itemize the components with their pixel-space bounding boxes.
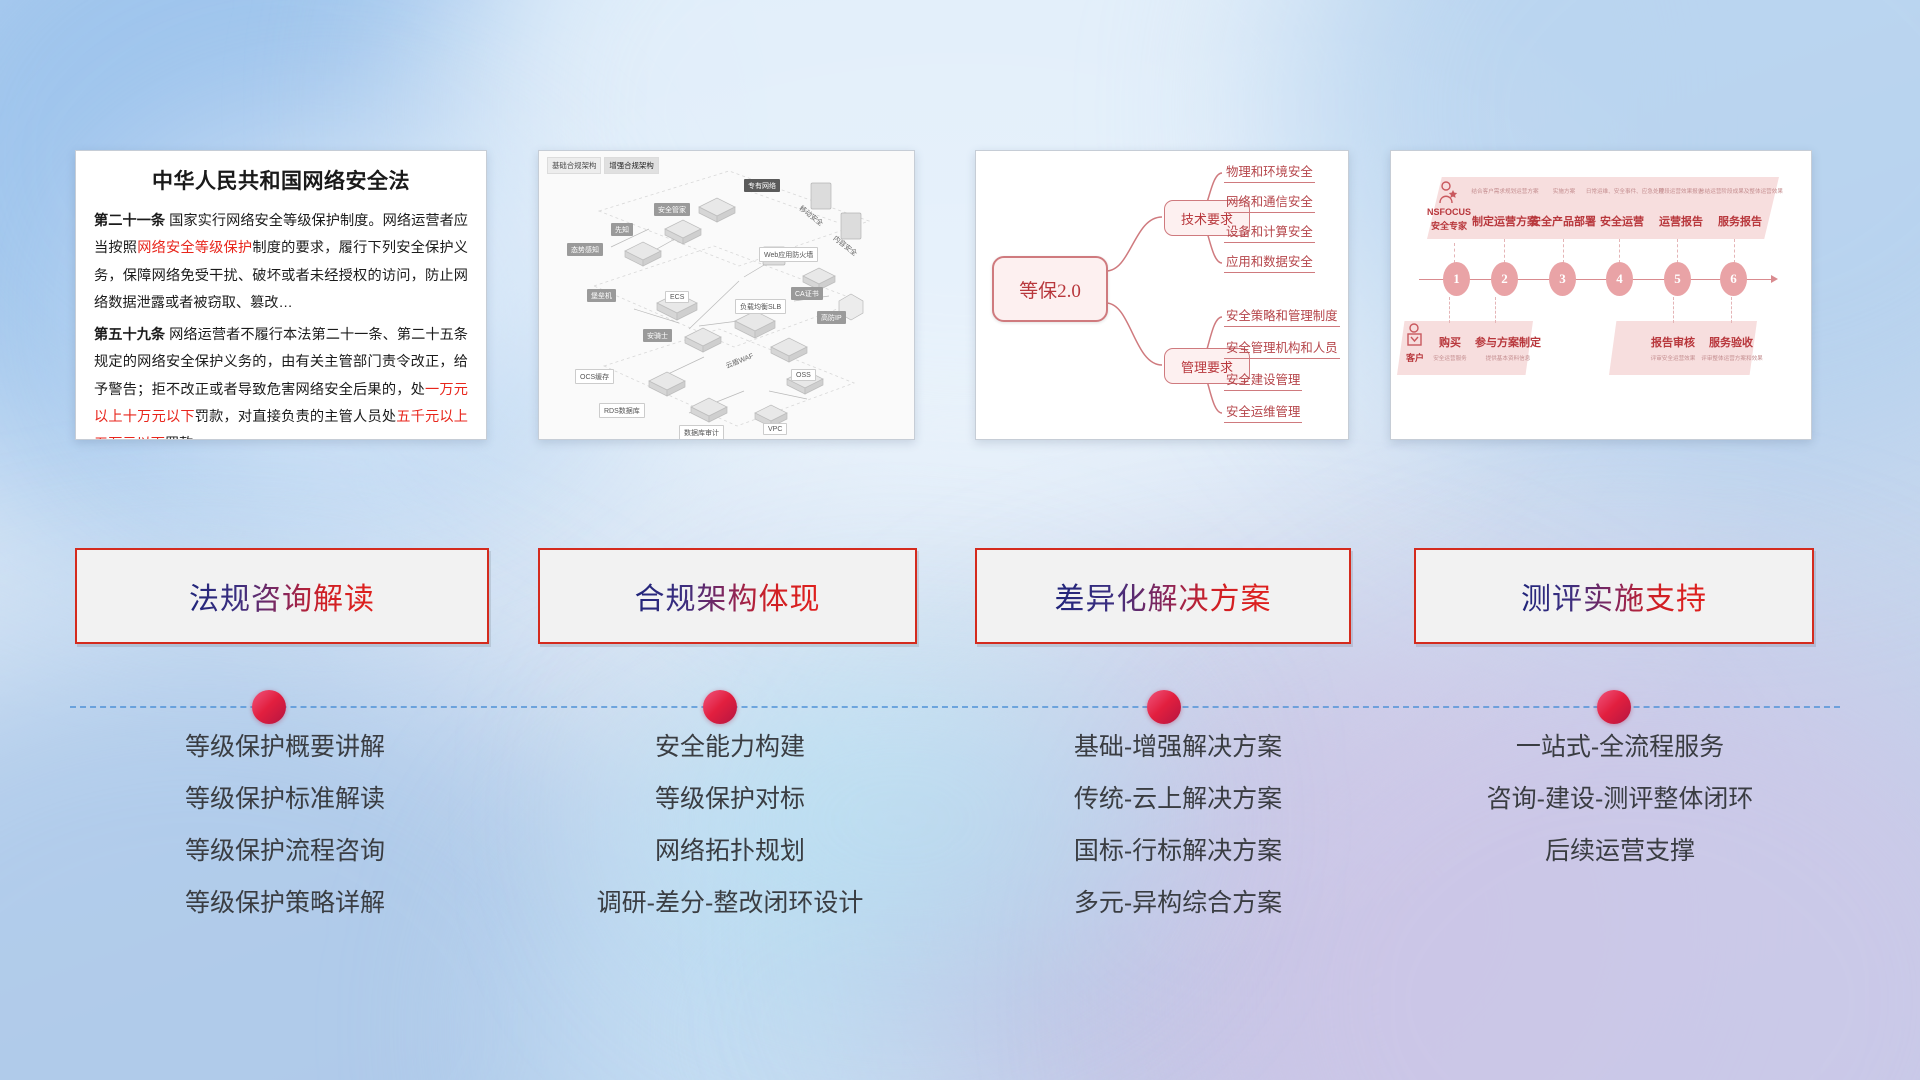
list-item: 一站式-全流程服务 xyxy=(1410,735,1830,760)
law-article-label: 第二十一条 xyxy=(94,213,165,229)
arch-node-label: 安骑士 xyxy=(643,329,672,342)
detail-column-row: 等级保护概要讲解 等级保护标准解读 等级保护流程咨询 等级保护策略详解 安全能力… xyxy=(0,735,1920,975)
mindmap-leaf[interactable]: 安全运维管理 xyxy=(1224,402,1302,423)
timeline-connector xyxy=(1673,297,1674,323)
arch-node-label: ECS xyxy=(665,291,689,303)
timeline-connector xyxy=(1495,297,1496,323)
law-text: 罚款，对直接负责的主管人员处 xyxy=(195,409,396,425)
timeline-arrow-icon xyxy=(1771,275,1778,283)
pillar-title: 法规咨询解读 xyxy=(189,574,375,618)
timeline-node-dot[interactable] xyxy=(703,690,737,724)
card-compliance-architecture[interactable]: 基础合规架构 增强合规架构 xyxy=(538,150,915,440)
arch-node-label: 专有网络 xyxy=(744,179,780,192)
timeline-step-dot[interactable]: 4 xyxy=(1606,262,1633,296)
arch-node-label: 先知 xyxy=(611,223,633,236)
law-text-highlight: 网络安全等级保护 xyxy=(137,240,252,256)
timeline-connector xyxy=(1677,239,1678,263)
timeline-stage-title: 参与方案制定 xyxy=(1469,334,1547,350)
list-item: 等级保护策略详解 xyxy=(75,891,495,916)
list-item: 等级保护流程咨询 xyxy=(75,839,495,864)
law-article-label: 第五十九条 xyxy=(94,327,165,343)
timeline-connector xyxy=(1731,297,1732,323)
list-item: 网络拓扑规划 xyxy=(520,839,940,864)
list-item: 咨询-建设-测评整体闭环 xyxy=(1410,787,1830,812)
timeline-step-dot[interactable]: 5 xyxy=(1664,262,1691,296)
timeline-stage-title: 购买 xyxy=(1427,334,1473,350)
timeline-step-dot[interactable]: 1 xyxy=(1443,262,1470,296)
mindmap-leaf[interactable]: 网络和通信安全 xyxy=(1224,192,1315,213)
timeline-stage-title: 报告审核 xyxy=(1645,334,1701,350)
detail-column-regulation: 等级保护概要讲解 等级保护标准解读 等级保护流程咨询 等级保护策略详解 xyxy=(75,735,495,943)
mindmap-leaf[interactable]: 设备和计算安全 xyxy=(1224,222,1315,243)
list-item: 基础-增强解决方案 xyxy=(963,735,1393,760)
architecture-diagram: 基础合规架构 增强合规架构 xyxy=(539,151,914,439)
timeline-stage-subtitle: 评审整体运营方案和效果 xyxy=(1693,354,1771,362)
arch-node-label: OSS xyxy=(791,369,816,381)
timeline-stage-subtitle: 提供基本资料信息 xyxy=(1471,354,1545,362)
timeline-connector xyxy=(1563,239,1564,263)
card-dengbao-mindmap[interactable]: 等保2.0 技术要求 管理要求 物理和环境安全 网络和通信安全 设备和计算安全 … xyxy=(975,150,1349,440)
arch-node-label: CA证书 xyxy=(791,287,823,300)
screenshot-card-row: 中华人民共和国网络安全法 第二十一条 国家实行网络安全等级保护制度。网络运营者应… xyxy=(0,150,1920,450)
pillar-assessment-support[interactable]: 测评实施支持 xyxy=(1414,548,1814,644)
arch-node-label: 数据库审计 xyxy=(679,425,724,440)
detail-column-assessment: 一站式-全流程服务 咨询-建设-测评整体闭环 后续运营支撑 xyxy=(1410,735,1830,891)
detail-column-solution: 基础-增强解决方案 传统-云上解决方案 国标-行标解决方案 多元-异构综合方案 xyxy=(963,735,1393,943)
timeline-stage-title: 服务报告 xyxy=(1705,213,1775,229)
list-item: 等级保护对标 xyxy=(520,787,940,812)
mindmap-leaf[interactable]: 应用和数据安全 xyxy=(1224,252,1315,273)
arch-node-label: 负载均衡SLB xyxy=(735,299,786,314)
list-item: 安全能力构建 xyxy=(520,735,940,760)
pillar-differentiated-solution[interactable]: 差异化解决方案 xyxy=(975,548,1351,644)
law-text: 罚款。 xyxy=(165,436,208,440)
list-item: 等级保护标准解读 xyxy=(75,787,495,812)
timeline-node-dot[interactable] xyxy=(1597,690,1631,724)
arch-node-label: VPC xyxy=(763,423,787,435)
timeline-connector xyxy=(1449,297,1450,323)
arch-node-label: Web应用防火墙 xyxy=(759,247,818,262)
timeline-dashed-line xyxy=(70,706,1840,708)
timeline-step-dot[interactable]: 2 xyxy=(1491,262,1518,296)
card-cybersecurity-law[interactable]: 中华人民共和国网络安全法 第二十一条 国家实行网络安全等级保护制度。网络运营者应… xyxy=(75,150,487,440)
arch-node-label: 安全管家 xyxy=(654,203,690,216)
timeline-node-dot[interactable] xyxy=(252,690,286,724)
timeline-stage-subtitle: 总结运营阶段成果及整体运营效果 xyxy=(1689,187,1793,195)
expert-person-icon xyxy=(1437,181,1459,205)
timeline-connector xyxy=(1454,243,1455,263)
law-document: 中华人民共和国网络安全法 第二十一条 国家实行网络安全等级保护制度。网络运营者应… xyxy=(76,151,486,439)
pillar-title: 测评实施支持 xyxy=(1521,574,1707,618)
pillar-compliance-architecture[interactable]: 合规架构体现 xyxy=(538,548,917,644)
mindmap-leaf[interactable]: 安全建设管理 xyxy=(1224,370,1302,391)
mindmap-leaf[interactable]: 物理和环境安全 xyxy=(1224,162,1315,183)
mindmap-leaf[interactable]: 安全管理机构和人员 xyxy=(1224,338,1340,359)
pillar-title-row: 法规咨询解读 合规架构体现 差异化解决方案 测评实施支持 xyxy=(0,548,1920,644)
arch-node-label: 态势感知 xyxy=(567,243,603,256)
card-nsfocus-service-timeline[interactable]: NSFOCUS 安全专家 客户 xyxy=(1390,150,1812,440)
pillar-regulation-consulting[interactable]: 法规咨询解读 xyxy=(75,548,489,644)
pillar-title: 差异化解决方案 xyxy=(1055,574,1272,618)
law-article: 第五十九条 网络运营者不履行本法第二十一条、第二十五条规定的网络安全保护义务的，… xyxy=(94,322,468,440)
list-item: 后续运营支撑 xyxy=(1410,839,1830,864)
timeline-connector xyxy=(1619,239,1620,263)
timeline-step-dot[interactable]: 3 xyxy=(1549,262,1576,296)
timeline-node-dot[interactable] xyxy=(1147,690,1181,724)
arch-node-label: 堡垒机 xyxy=(587,289,616,302)
mindmap-root-node[interactable]: 等保2.0 xyxy=(992,256,1108,322)
customer-person-icon xyxy=(1405,323,1425,349)
mindmap-leaf[interactable]: 安全策略和管理制度 xyxy=(1224,306,1340,327)
dashed-timeline xyxy=(0,690,1920,724)
mindmap: 等保2.0 技术要求 管理要求 物理和环境安全 网络和通信安全 设备和计算安全 … xyxy=(976,151,1348,439)
timeline-stage-title: 服务验收 xyxy=(1703,334,1759,350)
list-item: 等级保护概要讲解 xyxy=(75,735,495,760)
pillar-title: 合规架构体现 xyxy=(635,574,821,618)
list-item: 国标-行标解决方案 xyxy=(963,839,1393,864)
law-title: 中华人民共和国网络安全法 xyxy=(94,165,468,195)
timeline-connector xyxy=(1504,239,1505,263)
arch-node-label: OCS缓存 xyxy=(575,369,614,384)
arch-node-label: RDS数据库 xyxy=(599,403,645,418)
detail-column-architecture: 安全能力构建 等级保护对标 网络拓扑规划 调研-差分-整改闭环设计 xyxy=(520,735,940,943)
arch-node-label: 高防IP xyxy=(817,311,846,324)
list-item: 多元-异构综合方案 xyxy=(963,891,1393,916)
timeline-step-dot[interactable]: 6 xyxy=(1720,262,1747,296)
list-item: 传统-云上解决方案 xyxy=(963,787,1393,812)
nsfocus-timeline: NSFOCUS 安全专家 客户 xyxy=(1391,151,1811,439)
timeline-connector xyxy=(1734,239,1735,263)
list-item: 调研-差分-整改闭环设计 xyxy=(520,891,940,916)
law-article: 第二十一条 国家实行网络安全等级保护制度。网络运营者应当按照网络安全等级保护制度… xyxy=(94,208,468,317)
